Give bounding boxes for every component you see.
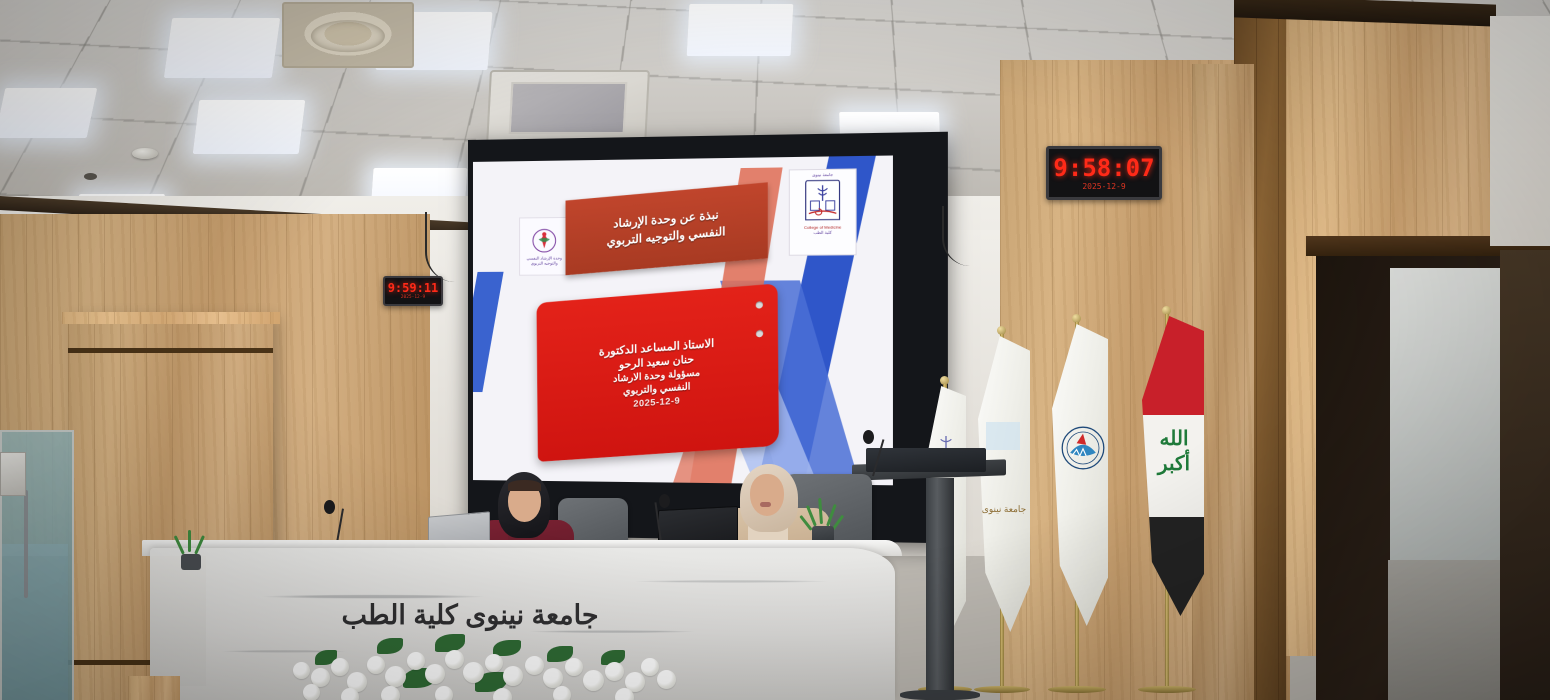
ministry-emblem-icon [1059, 424, 1107, 472]
logo-medicine-sub-text: كلية الطب [813, 230, 831, 235]
wooden-step [128, 676, 180, 700]
flag2-badge [986, 422, 1020, 450]
door-handle[interactable] [24, 490, 28, 598]
corridor-floor [1388, 560, 1508, 700]
guidance-unit-logo: وحدة الإرشاد النفسي والتوجيه التربوي [519, 217, 570, 276]
rose [503, 666, 523, 686]
rose [407, 652, 425, 670]
rose [463, 662, 484, 683]
microphone-head-left [324, 500, 335, 514]
foliage-leaf [435, 634, 465, 652]
lecture-hall-photo: وحدة الإرشاد النفسي والتوجيه التربوي جام… [0, 0, 1550, 700]
rose [605, 662, 624, 681]
rose [367, 656, 385, 674]
rose [341, 688, 359, 700]
ceiling-light-panel [193, 100, 306, 154]
rose [553, 686, 571, 700]
dais-wing-left [150, 556, 206, 686]
plant-pot [181, 554, 201, 570]
flag2-caption: جامعة نينوى [980, 504, 1028, 515]
lectern-column [926, 478, 954, 696]
rose [385, 666, 406, 687]
clock-main-time: 9:58:07 [1053, 156, 1154, 180]
plant-leaf [818, 498, 823, 524]
card-dot-icon [756, 330, 763, 338]
rose [435, 686, 453, 700]
lectern-panel [866, 448, 986, 472]
rose [565, 658, 583, 676]
flag-stand [974, 686, 1030, 693]
slide-title-text: نبذة عن وحدة الإرشاد النفسي والتوجيه الت… [607, 207, 726, 251]
flag-stand [1048, 686, 1106, 693]
digital-clock-main: 9:58:07 2025-12-9 [1046, 146, 1162, 200]
microphone-head-center [659, 494, 670, 508]
rose [331, 658, 349, 676]
wall-right-edge [1490, 16, 1550, 246]
rose [641, 658, 659, 676]
clock-secondary-date: 2025-12-9 [401, 296, 425, 301]
speaker-right-face [750, 474, 784, 516]
rose [485, 654, 503, 672]
plant-leaf [188, 530, 191, 552]
wood-column-cap [62, 312, 280, 324]
blue-accent-left [473, 272, 504, 392]
plant-leaf [174, 535, 185, 554]
smoke-detector [132, 148, 158, 159]
clock-main-date: 2025-12-9 [1082, 183, 1125, 191]
presentation-slide: وحدة الإرشاد النفسي والتوجيه التربوي جام… [473, 155, 893, 485]
air-conditioner-cassette [486, 70, 650, 146]
college-of-medicine-logo: جامعة نينوى College of Medicine كلية الط… [789, 168, 857, 255]
rose [615, 688, 634, 700]
rose [525, 656, 544, 675]
dais-plant-left [176, 530, 206, 570]
rose [493, 688, 512, 700]
open-door-leaf[interactable] [1390, 268, 1502, 568]
lectern-microphone-head [863, 430, 874, 444]
caduceus-emblem-icon [803, 177, 843, 225]
rose [657, 670, 676, 689]
clock-secondary-time: 9:59:11 [388, 282, 439, 294]
guidance-unit-emblem-icon [530, 227, 558, 255]
iraq-flag-inscription: الله أكبر [1148, 426, 1200, 476]
ceiling-speaker [84, 173, 97, 180]
flag-stand [1138, 686, 1196, 693]
ceiling-light-panel [687, 4, 794, 56]
foliage-leaf [377, 638, 403, 654]
rose [381, 686, 400, 700]
white-rose-arrangement [285, 628, 685, 700]
presentation-date: 2025-12-9 [633, 395, 680, 409]
ceiling-fan [282, 2, 414, 68]
rose [303, 684, 320, 700]
ceiling-light-panel [0, 88, 97, 138]
wall-mounted-box [0, 452, 26, 496]
door-leaf-dark [1500, 250, 1550, 700]
venue-sign-text: جامعة نينوى كلية الطب [260, 600, 680, 631]
digital-clock-secondary: 9:59:11 2025-12-9 [383, 276, 443, 306]
slide-presenter-card: الاستاذ المساعد الدكتورة حنان سعيد الرحو… [537, 283, 779, 461]
speaker-right-mouth [760, 502, 771, 507]
rose [543, 668, 563, 688]
rose [445, 650, 464, 669]
rose [425, 664, 445, 684]
rose [293, 662, 310, 679]
card-dot-icon [756, 301, 763, 309]
wood-column-trim [68, 348, 273, 353]
plant-leaf [194, 535, 205, 554]
rose [583, 670, 604, 691]
ceiling-light-panel [164, 18, 280, 78]
guidance-unit-logo-caption: وحدة الإرشاد النفسي والتوجيه التربوي [520, 255, 568, 265]
lectern-base [900, 690, 980, 700]
speaker-left-hair [508, 480, 541, 491]
